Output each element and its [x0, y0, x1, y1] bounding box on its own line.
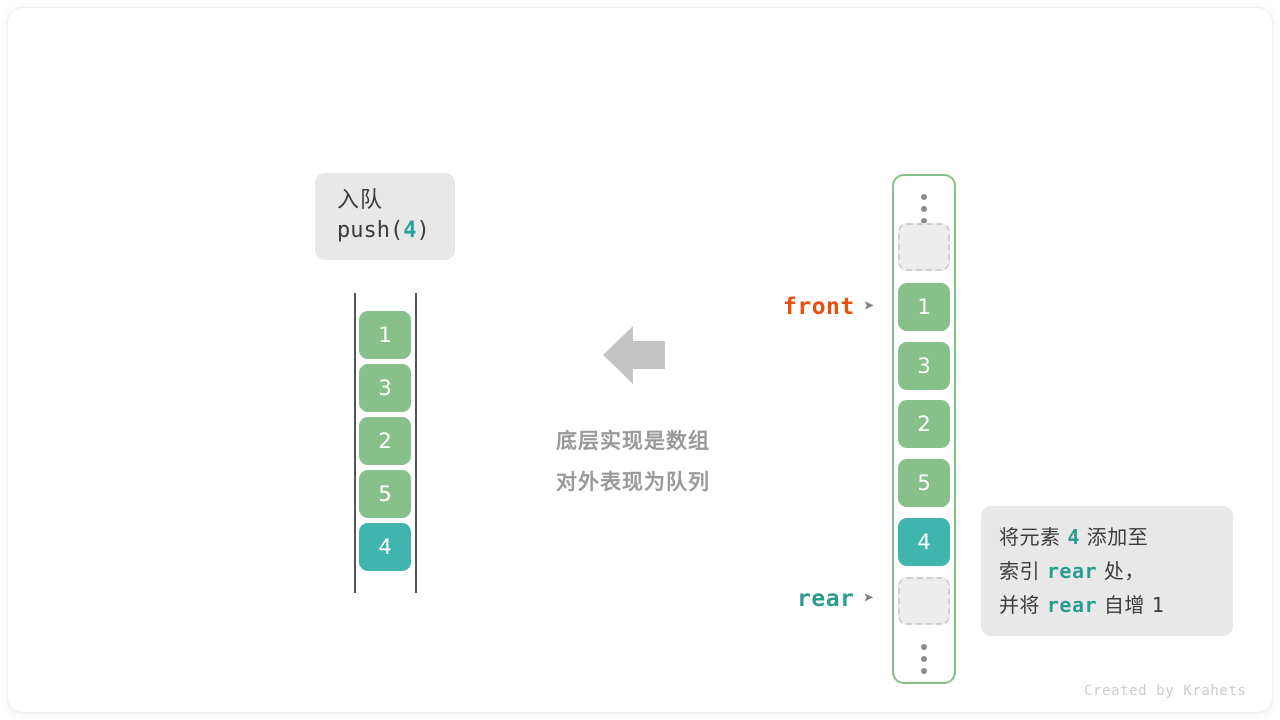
note-line-1-value: 4 [1067, 525, 1080, 549]
operation-code-prefix: push( [337, 218, 403, 243]
array-cell-empty [898, 577, 950, 625]
queue-cell: 2 [359, 417, 411, 465]
note-line-1-prefix: 将元素 [999, 525, 1067, 549]
note-line-2-keyword: rear [1047, 559, 1097, 583]
rear-pointer-arrow-icon: ➤ [863, 588, 874, 609]
queue-view: 1 3 2 5 4 [348, 293, 428, 595]
queue-cell: 5 [359, 470, 411, 518]
rear-pointer-text: rear [797, 586, 854, 612]
note-line-3-mid: 自增 [1097, 593, 1152, 617]
array-bottom-ellipsis-icon [921, 644, 927, 680]
diagram-caption: 底层实现是数组 对外表现为队列 [505, 421, 761, 503]
annotation-note-box: 将元素 4 添加至 索引 rear 处， 并将 rear 自增 1 [981, 506, 1233, 636]
note-line-2: 索引 rear 处， [999, 554, 1233, 588]
left-arrow-icon [603, 324, 665, 386]
queue-cell: 3 [359, 364, 411, 412]
array-view: 1 3 2 5 4 [892, 174, 956, 684]
operation-name-cn: 入队 [337, 187, 455, 215]
note-line-2-suffix: 处， [1097, 559, 1145, 583]
front-pointer-text: front [783, 294, 855, 320]
array-cell: 2 [898, 400, 950, 448]
operation-label-box: 入队 push(4) [315, 173, 455, 260]
note-line-3: 并将 rear 自增 1 [999, 588, 1233, 622]
operation-code-value: 4 [403, 218, 416, 243]
queue-rail-right [415, 293, 417, 593]
operation-code-suffix: ) [416, 218, 429, 243]
array-cell: 1 [898, 283, 950, 331]
array-cell: 5 [898, 459, 950, 507]
front-pointer-arrow-icon: ➤ [864, 296, 875, 317]
diagram-canvas: 入队 push(4) 1 3 2 5 4 底层实现是数组 对外表现为队列 fro… [8, 8, 1272, 712]
caption-line-2: 对外表现为队列 [505, 462, 761, 503]
note-line-1: 将元素 4 添加至 [999, 520, 1233, 554]
queue-cell: 1 [359, 311, 411, 359]
credit-text: Created by Krahets [1084, 683, 1247, 699]
note-line-1-suffix: 添加至 [1080, 525, 1148, 549]
note-line-3-keyword: rear [1047, 593, 1097, 617]
front-pointer-label: front➤ [783, 294, 875, 320]
array-cell-empty [898, 223, 950, 271]
queue-cell-new: 4 [359, 523, 411, 571]
note-line-3-value: 1 [1152, 593, 1165, 617]
rear-pointer-label: rear➤ [797, 586, 875, 612]
caption-line-1: 底层实现是数组 [505, 421, 761, 462]
note-line-2-prefix: 索引 [999, 559, 1047, 583]
array-cell: 3 [898, 342, 950, 390]
operation-code: push(4) [337, 215, 455, 247]
array-cell-new: 4 [898, 518, 950, 566]
queue-rail-left [354, 293, 356, 593]
note-line-3-prefix: 并将 [999, 593, 1047, 617]
